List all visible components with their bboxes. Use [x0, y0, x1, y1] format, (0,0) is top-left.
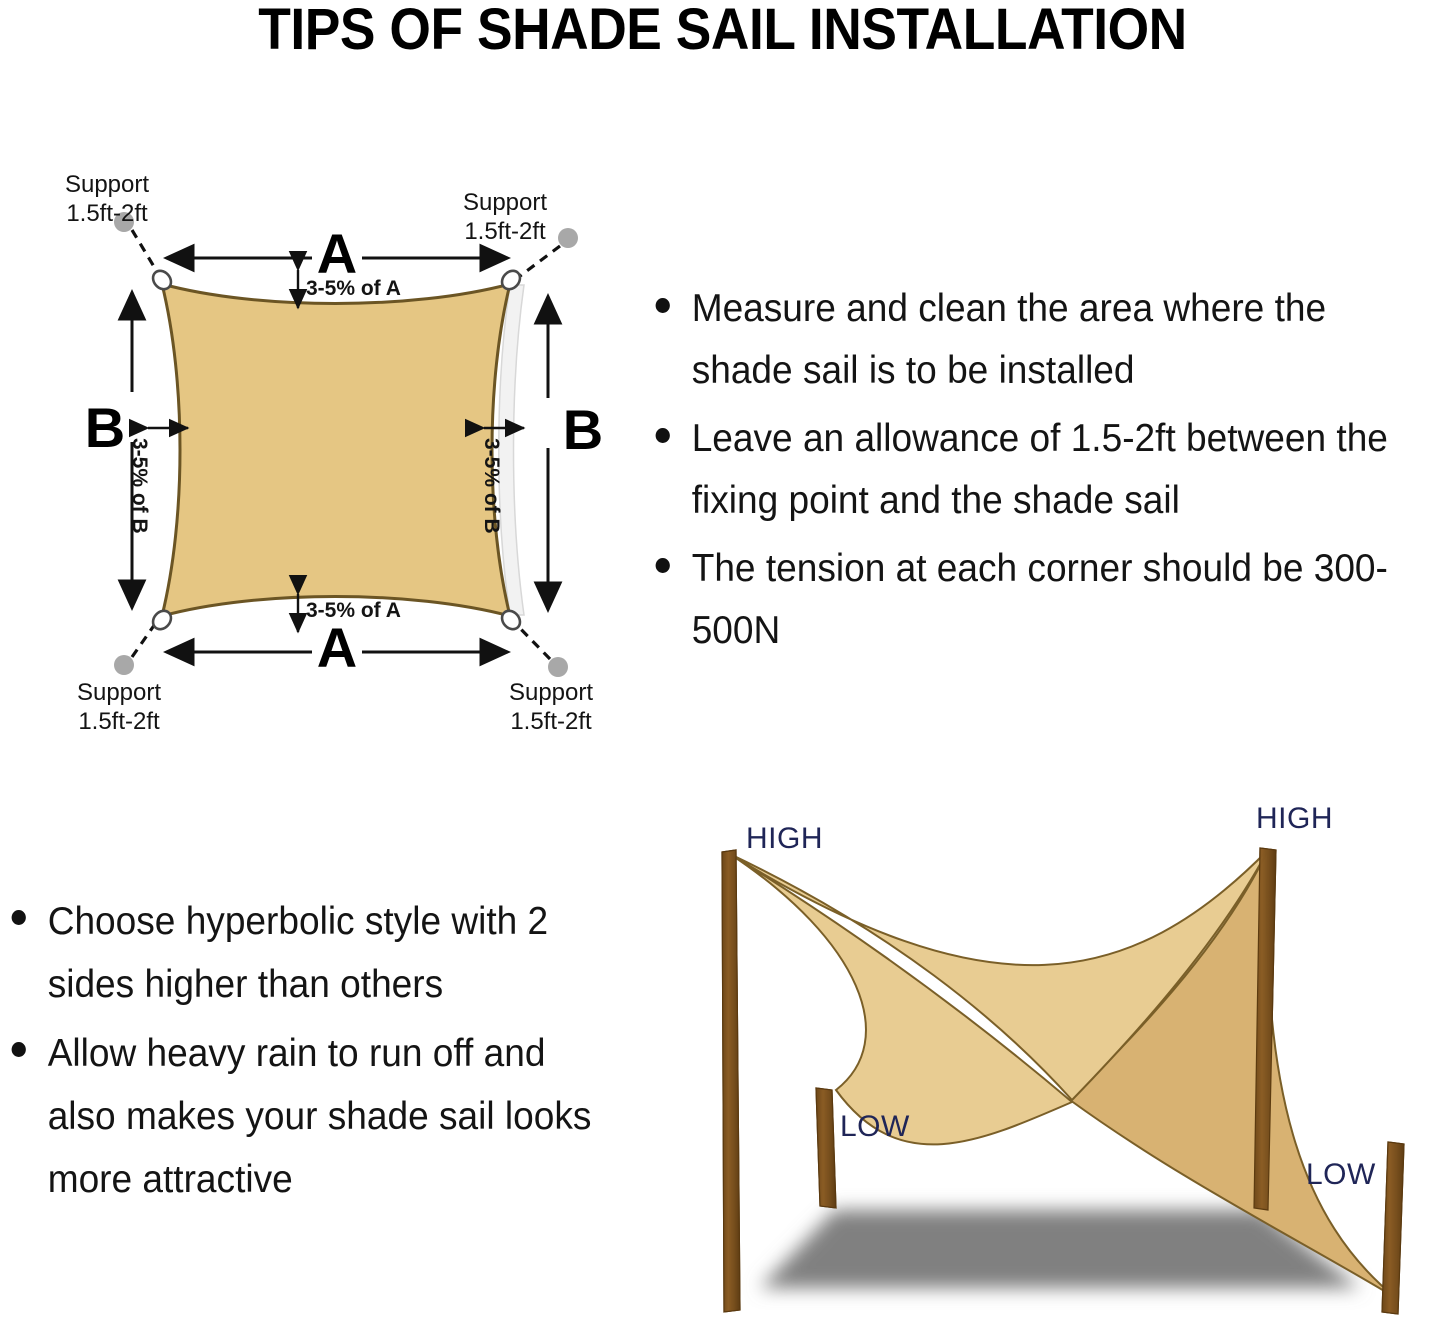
post-low-left-front [816, 1088, 836, 1208]
support-label-bottom-left-line2: 1.5ft-2ft [54, 707, 184, 736]
infographic-page: TIPS OF SHADE SAIL INSTALLATION [0, 0, 1445, 1319]
label-low-left: LOW [840, 1110, 910, 1144]
dimension-letter-left: B [80, 400, 130, 456]
hyperbolic-shade-sail-illustration: HIGH HIGH LOW LOW [660, 790, 1445, 1319]
sail-panel-left [730, 854, 1072, 1144]
support-leader-top-left [132, 230, 162, 280]
sail-panel-right [1070, 850, 1396, 1298]
support-dot-bottom-right [548, 657, 568, 677]
support-label-bottom-right-line1: Support [486, 678, 616, 707]
support-label-bottom-right-line2: 1.5ft-2ft [486, 707, 616, 736]
support-label-top-left-line2: 1.5ft-2ft [42, 199, 172, 228]
page-title: TIPS OF SHADE SAIL INSTALLATION [58, 0, 1387, 62]
list-item: The tension at each corner should be 300… [648, 538, 1408, 662]
support-label-top-right: Support 1.5ft-2ft [440, 188, 570, 246]
post-low-right-front [1382, 1142, 1404, 1314]
support-leader-bottom-right [510, 618, 550, 659]
shade-sail-dimension-diagram: Support 1.5ft-2ft Support 1.5ft-2ft Supp… [40, 170, 640, 730]
shade-sail-shape [162, 284, 510, 616]
dimension-letter-bottom: A [312, 620, 362, 676]
hyperbolic-tips-list: Choose hyperbolic style with 2 sides hig… [4, 890, 624, 1217]
support-label-top-left-line1: Support [42, 170, 172, 199]
list-item: Measure and clean the area where the sha… [648, 278, 1408, 402]
post-high-right [1254, 848, 1276, 1210]
support-leader-top-right [512, 246, 560, 282]
support-label-bottom-right: Support 1.5ft-2ft [486, 678, 616, 736]
sail-panel-top [730, 850, 1268, 1100]
label-high-left: HIGH [746, 822, 823, 856]
support-label-top-right-line2: 1.5ft-2ft [440, 217, 570, 246]
curvature-label-top: 3-5% of A [306, 278, 401, 300]
support-dot-bottom-left [114, 655, 134, 675]
post-low-left [816, 1088, 836, 1208]
curvature-label-right: 3-5% of B [480, 438, 502, 534]
curvature-label-left: 3-5% of B [128, 438, 150, 534]
dimension-letter-top: A [312, 226, 362, 282]
ground-shadow [760, 1210, 1360, 1288]
support-leader-bottom-left [132, 614, 162, 657]
support-label-top-left: Support 1.5ft-2ft [42, 170, 172, 228]
post-high-right-front [1254, 848, 1276, 1210]
label-high-right: HIGH [1256, 802, 1333, 836]
post-low-right [1382, 1142, 1404, 1314]
dimension-letter-right: B [558, 402, 608, 458]
support-label-top-right-line1: Support [440, 188, 570, 217]
support-label-bottom-left-line1: Support [54, 678, 184, 707]
hyperbolic-diagram-graphics [660, 790, 1445, 1319]
corner-d-rings [149, 267, 523, 633]
curvature-label-bottom: 3-5% of A [306, 600, 401, 622]
support-label-bottom-left: Support 1.5ft-2ft [54, 678, 184, 736]
installation-tips-list: Measure and clean the area where the sha… [648, 278, 1445, 668]
post-high-left-front [722, 850, 740, 1312]
post-high-left [722, 850, 740, 1312]
list-item: Choose hyperbolic style with 2 sides hig… [4, 890, 593, 1016]
list-item: Allow heavy rain to run off and also mak… [4, 1022, 593, 1211]
list-item: Leave an allowance of 1.5-2ft between th… [648, 408, 1408, 532]
label-low-right: LOW [1306, 1158, 1376, 1192]
